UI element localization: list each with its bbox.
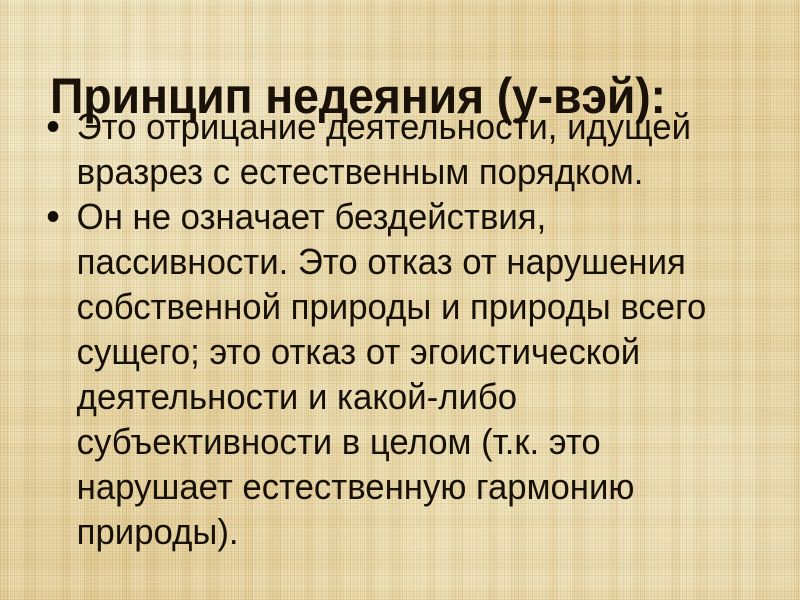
text-line: Это отрицание деятельности, идущей [77,104,754,149]
list-item: Он не означает бездействия, пассивности.… [40,194,754,554]
bullet-list: Это отрицание деятельности, идущей вразр… [40,104,780,554]
text-line: пассивности. Это отказ от нарушения [77,239,754,284]
text-line: нарушает естественную гармонию [77,464,754,509]
list-item-text: Это отрицание деятельности, идущей вразр… [77,104,754,194]
bullet-dot-icon [48,211,59,222]
slide-content: Принцип недеяния (у-вэй): Это отрицание … [0,0,800,600]
list-item: Это отрицание деятельности, идущей вразр… [40,104,754,194]
presentation-slide: Принцип недеяния (у-вэй): Это отрицание … [0,0,800,600]
list-item-text: Он не означает бездействия, пассивности.… [77,194,754,554]
text-line: сущего; это отказ от эгоистической [77,329,754,374]
text-line: вразрез с естественным порядком. [77,149,754,194]
text-line: Он не означает бездействия, [77,194,754,239]
text-line: собственной природы и природы всего [77,284,754,329]
bullet-dot-icon [48,121,59,132]
text-line: деятельности и какой-либо [77,374,754,419]
text-line: субъективности в целом (т.к. это [77,419,754,464]
text-line: природы). [77,509,754,554]
